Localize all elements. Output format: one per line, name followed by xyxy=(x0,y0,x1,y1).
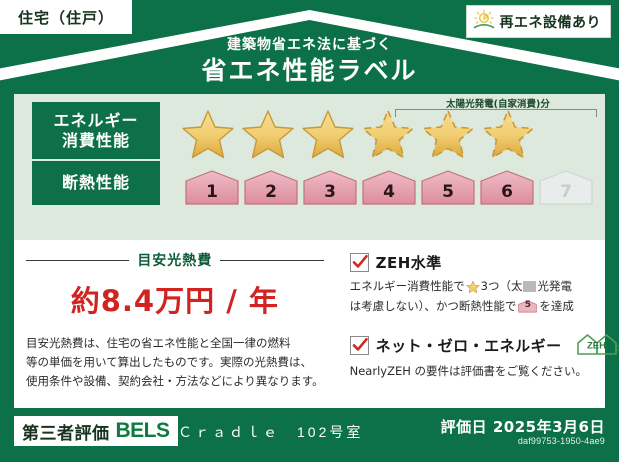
insulation-level-3-number: 3 xyxy=(302,182,358,202)
star-rating-group xyxy=(180,108,536,161)
insulation-level-2-number: 2 xyxy=(243,182,299,202)
zeh-logo-icon: ZEH Nearly ZEH xyxy=(575,332,619,358)
label-title: 建築物省エネ法に基づく 省エネ性能ラベル xyxy=(0,38,619,87)
insulation-level-3: 3 xyxy=(302,169,358,206)
evaluation-id: daf99753-1950-4ae9 xyxy=(518,436,605,446)
heading-rule-left xyxy=(26,260,129,261)
energy-cost-note: 目安光熱費は、住宅の省エネ性能と全国一律の燃料 等の単価を用いて算出したものです… xyxy=(26,334,324,391)
insulation-performance-row: 断熱性能 1 2 3 xyxy=(14,161,605,213)
net-zero-energy-body: NearlyZEH の要件は評価書をご覧ください。 xyxy=(350,362,619,382)
insulation-level-6: 6 xyxy=(479,169,535,206)
zeh-standard-checkbox xyxy=(350,253,369,272)
svg-text:ZEH: ZEH xyxy=(617,348,619,352)
net-zero-energy-body-line-1: NearlyZEH の要件は評価書をご覧ください。 xyxy=(350,362,619,382)
certification-column: ZEH水準 エネルギー消費性能で 3つ（太 光発電 は考慮しない）、かつ断熱性能… xyxy=(336,240,619,408)
insulation-level-group: 1 2 3 4 xyxy=(184,169,594,206)
zeh-standard-body-line-1: エネルギー消費性能で 3つ（太 光発電 xyxy=(350,277,619,297)
insulation-performance-value: 1 2 3 4 xyxy=(160,161,605,213)
zeh-standard-header: ZEH水準 xyxy=(350,252,619,273)
insulation-level-5-number: 5 xyxy=(420,182,476,202)
star-solar-4 xyxy=(360,108,416,161)
star-filled-2 xyxy=(240,108,296,161)
insulation-level-4: 4 xyxy=(361,169,417,206)
redacted-block xyxy=(523,281,536,292)
zeh-body-line2-post: を達成 xyxy=(539,297,574,317)
zeh-standard-body-line-2: は考慮しない）、かつ断熱性能で 5 を達成 xyxy=(350,297,619,317)
energy-cost-note-line-3: 使用条件や設備、契約会社・方法などにより異なります。 xyxy=(26,372,324,391)
net-zero-energy-header: ネット・ゼロ・エネルギー ZEH Nearly ZEH xyxy=(350,332,619,358)
inline-insulation-level-number: 5 xyxy=(518,299,537,314)
title-subtitle: 建築物省エネ法に基づく xyxy=(0,38,619,53)
section-spacer xyxy=(350,316,619,332)
sun-icon xyxy=(472,9,496,35)
zeh-body-after-star: 3つ（太 xyxy=(481,277,523,297)
renewable-equipment-badge: 再エネ設備あり xyxy=(466,5,612,38)
housing-type-tag: 住宅（住戸） xyxy=(0,0,132,34)
lower-section: 目安光熱費 約8.4万円 / 年 目安光熱費は、住宅の省エネ性能と全国一律の燃料… xyxy=(14,240,605,408)
title-main: 省エネ性能ラベル xyxy=(0,55,619,86)
insulation-level-6-number: 6 xyxy=(479,182,535,202)
net-zero-energy-body-text: NearlyZEH の要件は評価書をご覧ください。 xyxy=(350,362,587,382)
insulation-level-2: 2 xyxy=(243,169,299,206)
bels-certification-tag: 第三者評価 BELS xyxy=(14,416,178,446)
energy-performance-value: 太陽光発電(自家消費)分 xyxy=(160,94,605,161)
star-solar-6 xyxy=(480,108,536,161)
insulation-performance-key: 断熱性能 xyxy=(32,161,160,205)
energy-cost-note-line-1: 目安光熱費は、住宅の省エネ性能と全国一律の燃料 xyxy=(26,334,324,353)
building-name: Ｃｒａｄｌｅ 102号室 xyxy=(178,422,363,442)
insulation-level-7-number: 7 xyxy=(538,182,594,202)
energy-performance-key: エネルギー 消費性能 xyxy=(32,102,160,159)
zeh-standard-title: ZEH水準 xyxy=(376,252,442,273)
energy-cost-column: 目安光熱費 約8.4万円 / 年 目安光熱費は、住宅の省エネ性能と全国一律の燃料… xyxy=(14,240,336,408)
bels-tag-jp-label: 第三者評価 xyxy=(22,419,110,444)
energy-cost-value: 約8.4万円 / 年 xyxy=(26,278,324,320)
renewable-badge-label: 再エネ設備あり xyxy=(500,12,602,32)
energy-cost-note-line-2: 等の単価を用いて算出したものです。実際の光熱費は、 xyxy=(26,353,324,372)
insulation-key-label: 断熱性能 xyxy=(62,173,130,193)
inline-star-icon xyxy=(466,280,480,294)
energy-performance-row: エネルギー 消費性能 太陽光発電(自家消費)分 xyxy=(14,94,605,161)
energy-cost-heading: 目安光熱費 xyxy=(26,250,324,270)
insulation-level-7: 7 xyxy=(538,169,594,206)
label-footer: 第三者評価 BELS Ｃｒａｄｌｅ 102号室 評価日 2025年3月6日 da… xyxy=(0,408,619,462)
energy-cost-heading-text: 目安光熱費 xyxy=(137,250,212,270)
energy-key-line1: エネルギー xyxy=(53,111,138,131)
star-filled-1 xyxy=(180,108,236,161)
insulation-level-5: 5 xyxy=(420,169,476,206)
bels-energy-label: 建築物省エネ法に基づく 省エネ性能ラベル 住宅（住戸） 再エネ設備あり xyxy=(0,0,619,462)
inline-insulation-house-icon: 5 xyxy=(518,299,537,314)
zeh-body-line2-pre: は考慮しない）、かつ断熱性能で xyxy=(350,297,517,317)
zeh-standard-body: エネルギー消費性能で 3つ（太 光発電 は考慮しない）、かつ断熱性能で 5 xyxy=(350,277,619,316)
insulation-level-1-number: 1 xyxy=(184,182,240,202)
evaluation-date: 評価日 2025年3月6日 xyxy=(441,416,605,437)
star-solar-5 xyxy=(420,108,476,161)
svg-text:ZEH: ZEH xyxy=(587,341,606,352)
energy-key-line2: 消費性能 xyxy=(62,131,130,151)
ratings-block: エネルギー 消費性能 太陽光発電(自家消費)分 xyxy=(14,94,605,240)
star-filled-3 xyxy=(300,108,356,161)
net-zero-energy-checkbox xyxy=(350,336,369,355)
zeh-body-pre-star: エネルギー消費性能で xyxy=(350,277,465,297)
net-zero-energy-title: ネット・ゼロ・エネルギー xyxy=(376,335,562,356)
label-body-panel: エネルギー 消費性能 太陽光発電(自家消費)分 xyxy=(14,94,605,408)
heading-rule-right xyxy=(220,260,323,261)
insulation-level-4-number: 4 xyxy=(361,182,417,202)
bels-tag-en-label: BELS xyxy=(116,419,170,443)
zeh-body-after-block: 光発電 xyxy=(537,277,572,297)
insulation-level-1: 1 xyxy=(184,169,240,206)
